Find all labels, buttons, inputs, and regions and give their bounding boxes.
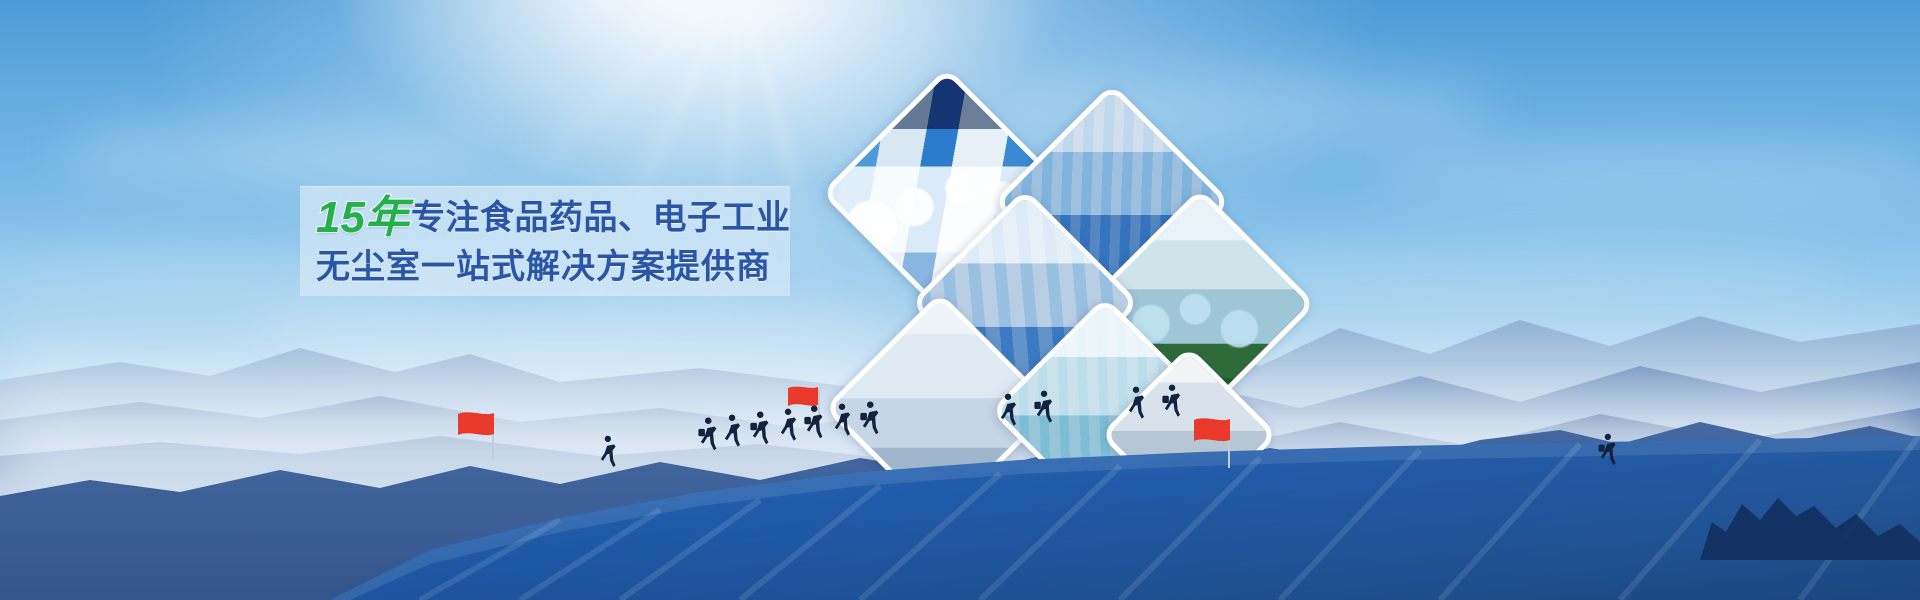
cloud [60, 120, 490, 190]
cloud [1380, 140, 1920, 210]
hiker-silhouettes [0, 380, 1920, 490]
hero-banner: 15年专注食品药品、电子工业 无尘室一站式解决方案提供商 [0, 0, 1920, 600]
years-badge: 15年 [316, 193, 409, 242]
slogan-line-1: 15年专注食品药品、电子工业 [316, 196, 786, 240]
slogan-line-2: 无尘室一站式解决方案提供商 [316, 250, 786, 284]
slogan-block: 15年专注食品药品、电子工业 无尘室一站式解决方案提供商 [316, 196, 786, 284]
slogan-line-1-text: 专注食品药品、电子工业 [411, 199, 791, 237]
